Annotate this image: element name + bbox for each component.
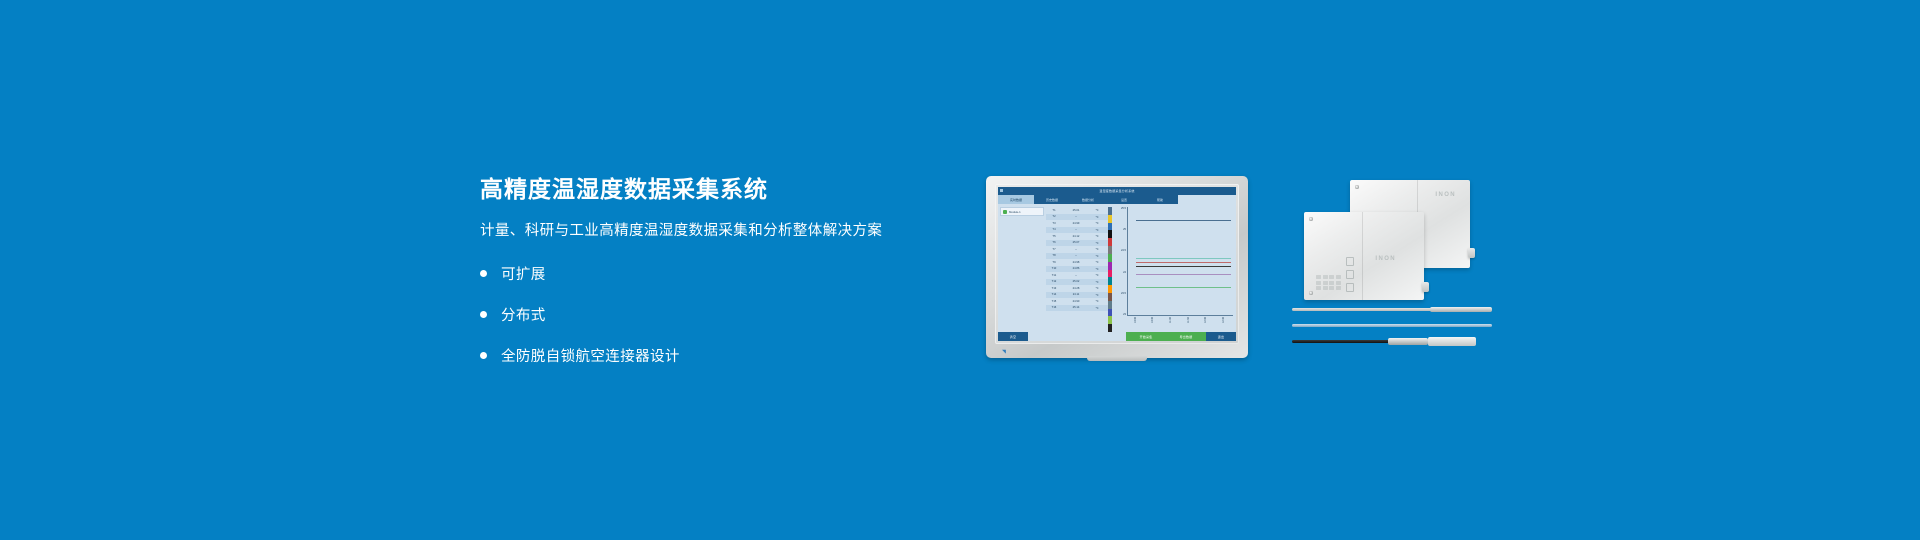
- sensor-probes-image: [1292, 300, 1492, 360]
- channel-unit: ℃: [1090, 306, 1104, 310]
- monitor-chassis: 温湿度数据采集分析系统 实时数据 历史数据 数据分析 设置 帮助: [986, 176, 1248, 358]
- tab-bar: 实时数据 历史数据 数据分析 设置 帮助: [998, 195, 1236, 204]
- x-tick: 10:30: [1152, 315, 1154, 323]
- x-tick: 10:00: [1135, 315, 1137, 323]
- screw-icon: [1309, 217, 1313, 221]
- panel-seam: [1362, 212, 1363, 300]
- channel-unit: ℃: [1090, 247, 1104, 251]
- trend-chart: 25.5 25 24.5 24 23.5 23: [1112, 204, 1236, 332]
- channel-unit: ℃: [1090, 254, 1104, 258]
- list-item: 可扩展: [480, 263, 1000, 284]
- series-line: [1136, 274, 1231, 275]
- window-icon: [1000, 189, 1003, 192]
- channel-value: 24.28: [1062, 287, 1090, 290]
- channel-name: T9: [1046, 261, 1062, 264]
- channel-value: 24.11: [1062, 293, 1090, 296]
- table-row[interactable]: T1625.14℃: [1046, 305, 1108, 312]
- channel-unit: ℃: [1090, 208, 1104, 212]
- monitor-stand: [1087, 356, 1147, 361]
- tree-node-module[interactable]: Module-1: [1000, 207, 1044, 216]
- channel-value: 25.01: [1062, 209, 1090, 212]
- y-tick: 25: [1123, 228, 1126, 231]
- status-online-icon: [1003, 210, 1007, 214]
- x-tick: 11:30: [1188, 315, 1190, 323]
- probe-shaft: [1292, 324, 1492, 327]
- port-group-icon: [1346, 257, 1354, 292]
- acquisition-modules-image: INON INON: [1292, 172, 1492, 312]
- channel-name: T2: [1046, 215, 1062, 218]
- series-line: [1136, 287, 1231, 288]
- list-item: 分布式: [480, 304, 1000, 325]
- terminal-block-icon: [1316, 275, 1341, 290]
- page-title: 高精度温湿度数据采集系统: [480, 175, 1000, 204]
- channel-value: --: [1062, 248, 1090, 251]
- channel-name: T6: [1046, 241, 1062, 244]
- channel-unit: ℃: [1090, 228, 1104, 232]
- channel-table: T125.01℃ T2--℃ T324.99℃ T4--℃ T524.12℃ T…: [1046, 204, 1108, 332]
- chart-plot-area: [1127, 207, 1233, 316]
- y-tick: 24.5: [1121, 249, 1126, 252]
- monitor-brand-icon: ◥: [1002, 350, 1007, 355]
- tab-help[interactable]: 帮助: [1142, 195, 1178, 204]
- series-line: [1136, 266, 1231, 267]
- channel-name: T13: [1046, 287, 1062, 290]
- tab-history-data[interactable]: 历史数据: [1034, 195, 1070, 204]
- tab-settings[interactable]: 设置: [1106, 195, 1142, 204]
- bullet-dot-icon: [480, 352, 487, 359]
- device-tree-panel: Module-1: [998, 204, 1046, 332]
- feature-label: 可扩展: [501, 263, 546, 284]
- channel-unit: ℃: [1090, 273, 1104, 277]
- channel-value: --: [1062, 274, 1090, 277]
- y-tick: 25.5: [1121, 207, 1126, 210]
- monitor-device-image: 温湿度数据采集分析系统 实时数据 历史数据 数据分析 设置 帮助: [986, 176, 1248, 358]
- feature-list: 可扩展 分布式 全防脱自锁航空连接器设计: [480, 263, 1000, 366]
- probe-shaft: [1292, 340, 1390, 343]
- brand-logo: INON: [1375, 256, 1396, 262]
- channel-name: T3: [1046, 222, 1062, 225]
- channel-name: T15: [1046, 300, 1062, 303]
- channel-value: 24.98: [1062, 261, 1090, 264]
- x-tick: 12:00: [1205, 315, 1207, 323]
- channel-name: T5: [1046, 235, 1062, 238]
- channel-value: 24.99: [1062, 222, 1090, 225]
- channel-name: T8: [1046, 254, 1062, 257]
- chart-y-axis: 25.5 25 24.5 24 23.5 23: [1116, 207, 1126, 316]
- probe-connector: [1388, 338, 1428, 345]
- tab-realtime-data[interactable]: 实时数据: [998, 195, 1034, 204]
- brand-logo: INON: [1435, 192, 1456, 198]
- probe-housing: [1428, 337, 1476, 346]
- channel-value: 24.90: [1062, 300, 1090, 303]
- app-footer-toolbar: 清空 开始采集 导出数据 退出: [998, 332, 1236, 341]
- channel-value: --: [1062, 215, 1090, 218]
- channel-unit: ℃: [1090, 215, 1104, 219]
- monitor-bezel: 温湿度数据采集分析系统 实时数据 历史数据 数据分析 设置 帮助: [995, 184, 1239, 344]
- hero-copy: 高精度温湿度数据采集系统 计量、科研与工业高精度温湿度数据采集和分析整体解决方案…: [480, 175, 1000, 366]
- channel-value: 24.12: [1062, 235, 1090, 238]
- channel-unit: ℃: [1090, 267, 1104, 271]
- channel-unit: ℃: [1090, 286, 1104, 290]
- channel-value: 25.07: [1062, 241, 1090, 244]
- monitor-screen: 温湿度数据采集分析系统 实时数据 历史数据 数据分析 设置 帮助: [998, 187, 1236, 341]
- channel-unit: ℃: [1090, 234, 1104, 238]
- y-tick: 23: [1123, 313, 1126, 316]
- exit-button[interactable]: 退出: [1206, 332, 1236, 341]
- y-tick: 23.5: [1121, 292, 1126, 295]
- probe-tip: [1430, 307, 1492, 312]
- app-title: 温湿度数据采集分析系统: [1099, 189, 1134, 193]
- channel-value: 25.14: [1062, 306, 1090, 309]
- series-line: [1136, 258, 1231, 259]
- series-line: [1136, 220, 1231, 221]
- x-tick: 12:30: [1223, 315, 1225, 323]
- feature-label: 全防脱自锁航空连接器设计: [501, 345, 680, 366]
- channel-value: --: [1062, 254, 1090, 257]
- x-tick: 11:00: [1170, 315, 1172, 323]
- channel-value: 25.02: [1062, 280, 1090, 283]
- channel-unit: ℃: [1090, 260, 1104, 264]
- channel-name: T4: [1046, 228, 1062, 231]
- channel-unit: ℃: [1090, 280, 1104, 284]
- channel-name: T16: [1046, 306, 1062, 309]
- channel-unit: ℃: [1090, 241, 1104, 245]
- channel-value: --: [1062, 228, 1090, 231]
- hero-banner: 高精度温湿度数据采集系统 计量、科研与工业高精度温湿度数据采集和分析整体解决方案…: [0, 0, 1920, 540]
- app-body: Module-1 T125.01℃ T2--℃ T324.99℃ T4--℃ T…: [998, 204, 1236, 332]
- channel-unit: ℃: [1090, 293, 1104, 297]
- y-tick: 24: [1123, 271, 1126, 274]
- bullet-dot-icon: [480, 270, 487, 277]
- screw-icon: [1355, 185, 1359, 189]
- export-data-button[interactable]: 导出数据: [1166, 332, 1206, 341]
- tab-analysis[interactable]: 数据分析: [1070, 195, 1106, 204]
- page-subtitle: 计量、科研与工业高精度温湿度数据采集和分析整体解决方案: [480, 222, 1000, 241]
- channel-name: T1: [1046, 209, 1062, 212]
- module-front-unit: INON: [1304, 212, 1424, 300]
- screw-icon: [1309, 291, 1313, 295]
- channel-value: 24.86: [1062, 267, 1090, 270]
- list-item: 全防脱自锁航空连接器设计: [480, 345, 1000, 366]
- footer-spacer: [1028, 332, 1126, 341]
- tree-node-label: Module-1: [1009, 210, 1021, 214]
- series-line: [1136, 262, 1231, 263]
- tab-bar-filler: [1178, 195, 1236, 204]
- start-capture-button[interactable]: 开始采集: [1126, 332, 1166, 341]
- connector-port-icon: [1422, 282, 1429, 292]
- probe-shaft: [1292, 308, 1432, 311]
- channel-name: T14: [1046, 293, 1062, 296]
- connector-port-icon: [1468, 248, 1475, 258]
- clear-button[interactable]: 清空: [998, 332, 1028, 341]
- channel-name: T7: [1046, 248, 1062, 251]
- bullet-dot-icon: [480, 311, 487, 318]
- app-title-bar: 温湿度数据采集分析系统: [998, 187, 1236, 195]
- feature-label: 分布式: [501, 304, 546, 325]
- chart-x-axis: 10:00 10:30 11:00 11:30 12:00 12:30: [1127, 315, 1233, 323]
- channel-unit: ℃: [1090, 221, 1104, 225]
- channel-name: T10: [1046, 267, 1062, 270]
- channel-unit: ℃: [1090, 299, 1104, 303]
- channel-name: T12: [1046, 280, 1062, 283]
- channel-name: T11: [1046, 274, 1062, 277]
